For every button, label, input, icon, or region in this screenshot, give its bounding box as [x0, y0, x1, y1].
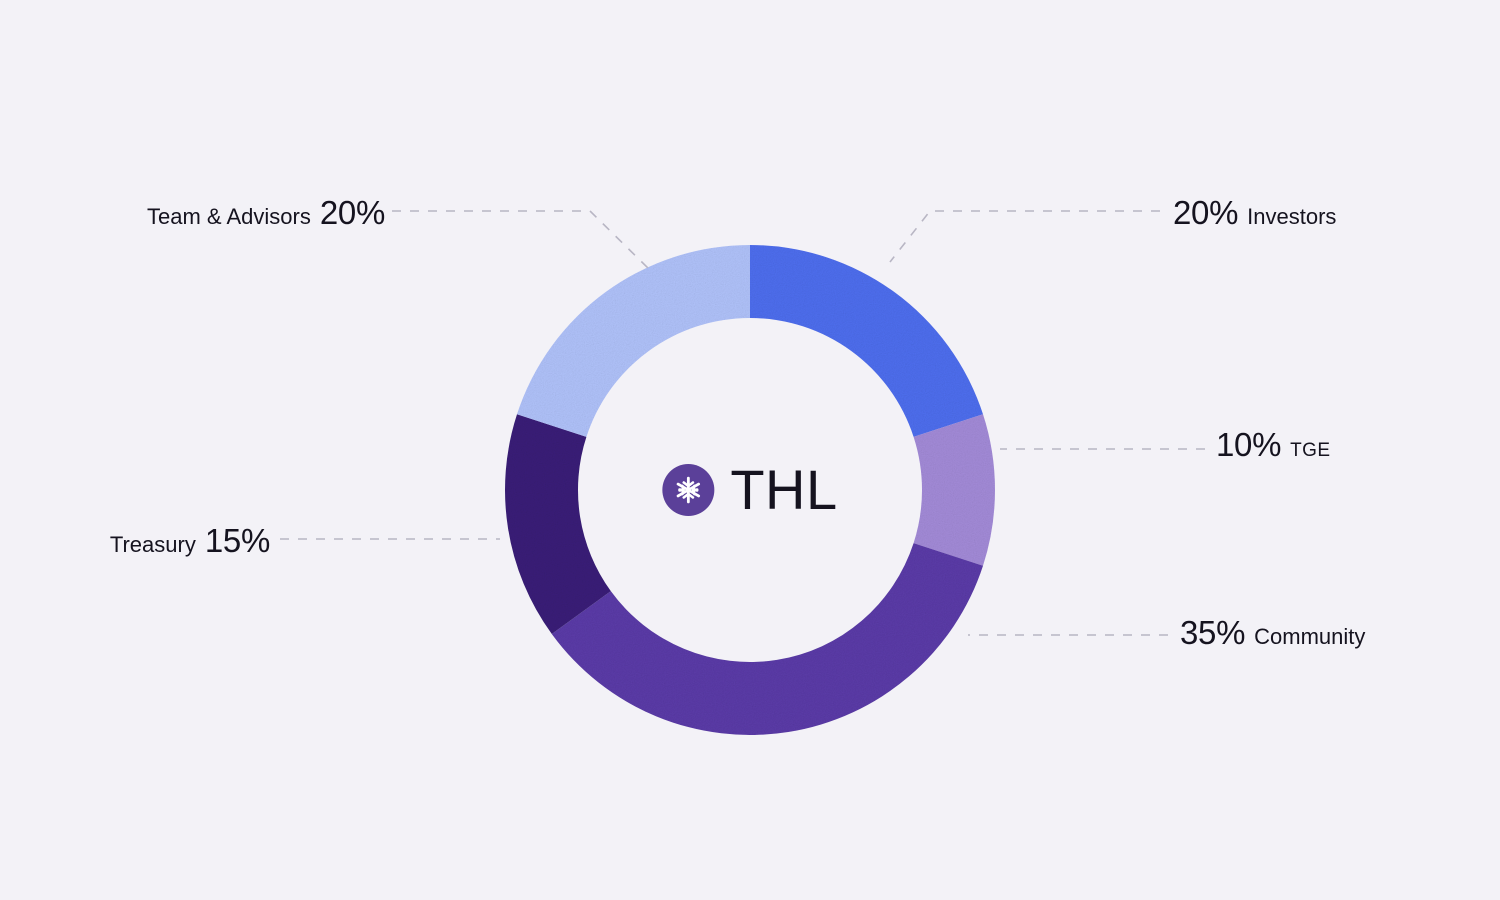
callout-investors-name: Investors: [1247, 206, 1336, 228]
callout-investors-value: 20%: [1173, 196, 1238, 229]
donut-slice-investors[interactable]: [750, 245, 983, 437]
callout-tge-value: 10%: [1216, 428, 1281, 461]
donut-slice-tge[interactable]: [914, 414, 995, 565]
brand-name: THL: [730, 462, 837, 518]
callout-community-value: 35%: [1180, 616, 1245, 649]
callout-team-advisors-value: 20%: [320, 196, 385, 229]
center-brand: THL: [662, 462, 837, 518]
callout-treasury: Treasury 15%: [110, 524, 270, 557]
callout-treasury-value: 15%: [205, 524, 270, 557]
donut-slice-community[interactable]: [552, 543, 983, 735]
donut-slice-treasury[interactable]: [505, 414, 611, 634]
chart-area: THL Team & Advisors 20% Treasury 15% 20%…: [0, 0, 1500, 900]
callout-tge: 10% TGE: [1216, 428, 1330, 461]
callout-team-advisors-name: Team & Advisors: [147, 206, 311, 228]
donut-slice-team-advisors[interactable]: [517, 245, 750, 437]
callout-treasury-name: Treasury: [110, 534, 196, 556]
callout-community-name: Community: [1254, 626, 1365, 648]
snowflake-icon: [662, 464, 714, 516]
callout-tge-name: TGE: [1290, 441, 1330, 460]
callout-community: 35% Community: [1180, 616, 1365, 649]
callout-team-advisors: Team & Advisors 20%: [147, 196, 385, 229]
callout-investors: 20% Investors: [1173, 196, 1336, 229]
tokenomics-donut-chart: THL Team & Advisors 20% Treasury 15% 20%…: [0, 0, 1500, 900]
